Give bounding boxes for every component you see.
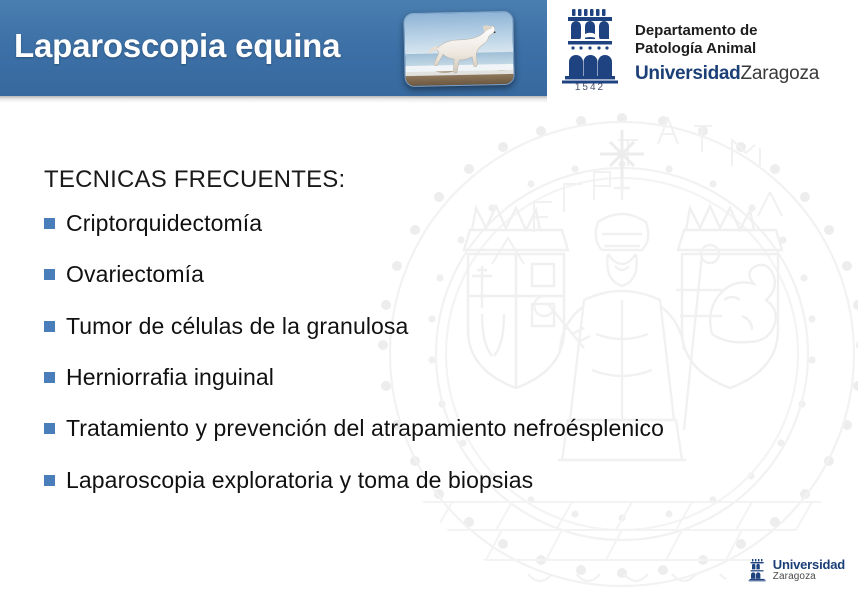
- page-title: Laparoscopia equina: [14, 27, 340, 65]
- university-wordmark-bold: Universidad: [635, 63, 740, 84]
- list-item: Criptorquidectomía: [44, 208, 744, 238]
- university-wordmark: UniversidadZaragoza: [635, 62, 819, 85]
- department-line-1: Departamento de: [635, 22, 819, 40]
- list-item-label: Ovariectomía: [66, 261, 204, 287]
- crest-year: 1542: [575, 82, 605, 90]
- slide-content: TECNICAS FRECUENTES: Criptorquidectomía …: [0, 104, 858, 544]
- slide-header: Laparoscopia equina: [0, 0, 858, 104]
- department-logo-panel: 1542 Departamento de Patología Animal Un…: [547, 0, 858, 104]
- list-item: Herniorrafia inguinal: [44, 362, 744, 392]
- slide: Laparoscopia equina: [0, 0, 858, 608]
- list-item: Tratamiento y prevención del atrapamient…: [44, 413, 744, 443]
- list-item-label: Criptorquidectomía: [66, 210, 262, 236]
- bullet-square-icon: [44, 218, 55, 229]
- slide-footer: Universidad Zaragoza: [0, 544, 858, 608]
- bullet-square-icon: [44, 423, 55, 434]
- department-text-block: Departamento de Patología Animal Univers…: [635, 22, 819, 85]
- university-of-zaragoza-crest-icon: 1542: [555, 6, 625, 90]
- university-of-zaragoza-crest-icon: [747, 558, 767, 582]
- bullet-square-icon: [44, 475, 55, 486]
- list-item: Laparoscopia exploratoria y toma de biop…: [44, 465, 744, 495]
- list-item-label: Herniorrafia inguinal: [66, 364, 274, 390]
- footer-wordmark: Universidad Zaragoza: [773, 558, 845, 582]
- galloping-horse-photo: [403, 11, 515, 87]
- university-wordmark-light: Zaragoza: [740, 63, 819, 84]
- list-item-label: Tumor de células de la granulosa: [66, 313, 408, 339]
- list-item: Tumor de células de la granulosa: [44, 311, 744, 341]
- footer-wordmark-bold: Universidad: [773, 558, 845, 572]
- bullet-square-icon: [44, 321, 55, 332]
- bullet-square-icon: [44, 269, 55, 280]
- bullet-square-icon: [44, 372, 55, 383]
- footer-university-logo: Universidad Zaragoza: [747, 558, 845, 582]
- techniques-list: Criptorquidectomía Ovariectomía Tumor de…: [44, 208, 744, 495]
- title-bar-shadow: [0, 96, 547, 103]
- footer-wordmark-light: Zaragoza: [773, 572, 845, 583]
- section-heading: TECNICAS FRECUENTES:: [44, 166, 345, 194]
- list-item: Ovariectomía: [44, 259, 744, 289]
- list-item-label: Tratamiento y prevención del atrapamient…: [66, 415, 664, 441]
- list-item-label: Laparoscopia exploratoria y toma de biop…: [66, 467, 533, 493]
- department-line-2: Patología Animal: [635, 40, 819, 58]
